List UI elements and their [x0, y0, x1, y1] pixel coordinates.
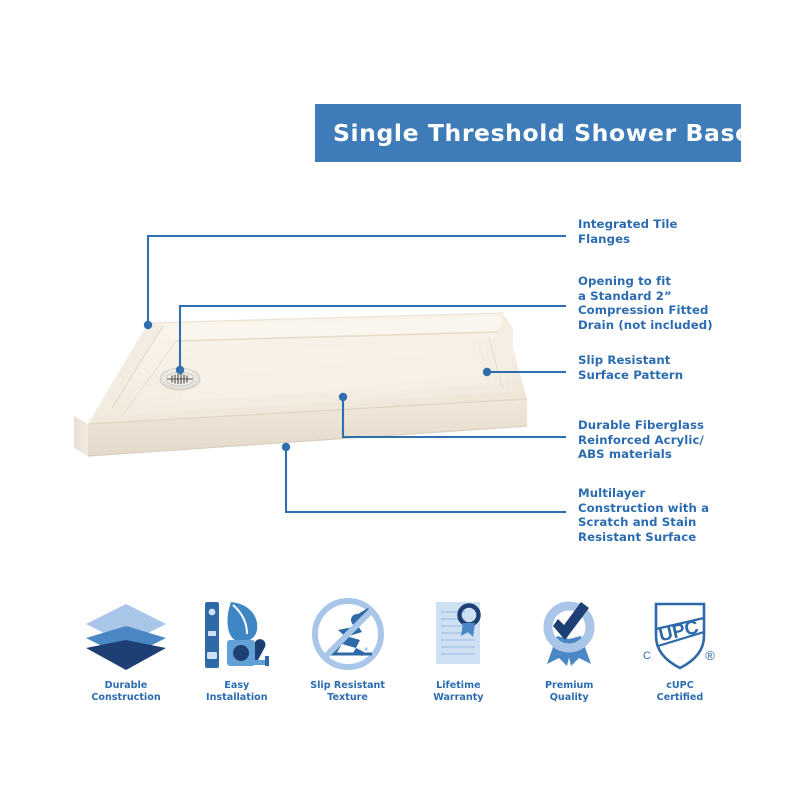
- feature-label: Slip Resistant Texture: [310, 680, 385, 705]
- infographic-canvas: Single Threshold Shower Base Integrated …: [0, 0, 806, 806]
- rosette-check-icon: [523, 596, 615, 674]
- shield-text: UPC: [657, 617, 701, 647]
- feature-slip-resistant: Slip Resistant Texture: [294, 596, 402, 705]
- feature-label: Easy Installation: [206, 680, 268, 705]
- feature-label: Durable Construction: [91, 680, 160, 705]
- certificate-icon: [412, 596, 504, 674]
- feature-label: cUPC Certified: [657, 680, 704, 705]
- feature-row: Durable Construction: [72, 596, 734, 716]
- page-title: Single Threshold Shower Base: [333, 119, 752, 147]
- feature-lifetime-warranty: Lifetime Warranty: [404, 596, 512, 705]
- trowel-level-icon: [191, 596, 283, 674]
- feature-label: Lifetime Warranty: [433, 680, 483, 705]
- shield-left-mark: C: [643, 650, 651, 662]
- layers-icon: [80, 596, 172, 674]
- shield-right-mark: ®: [705, 648, 715, 663]
- callout-drain-opening: Opening to fit a Standard 2” Compression…: [578, 274, 713, 332]
- shower-pan: [74, 313, 527, 456]
- feature-durable-construction: Durable Construction: [72, 596, 180, 705]
- callout-multilayer-construction: Multilayer Construction with a Scratch a…: [578, 486, 709, 544]
- callout-slip-resistant-surface: Slip Resistant Surface Pattern: [578, 353, 683, 382]
- feature-easy-installation: Easy Installation: [183, 596, 291, 705]
- callout-durable-fiberglass: Durable Fiberglass Reinforced Acrylic/ A…: [578, 418, 704, 462]
- feature-premium-quality: Premium Quality: [515, 596, 623, 705]
- no-slip-icon: [302, 596, 394, 674]
- upc-shield-icon: UPC C ®: [634, 596, 726, 674]
- feature-label: Premium Quality: [545, 680, 593, 705]
- feature-cupc-certified: UPC C ® cUPC Certified: [626, 596, 734, 705]
- callout-integrated-tile-flanges: Integrated Tile Flanges: [578, 217, 678, 246]
- title-banner: Single Threshold Shower Base: [315, 104, 741, 162]
